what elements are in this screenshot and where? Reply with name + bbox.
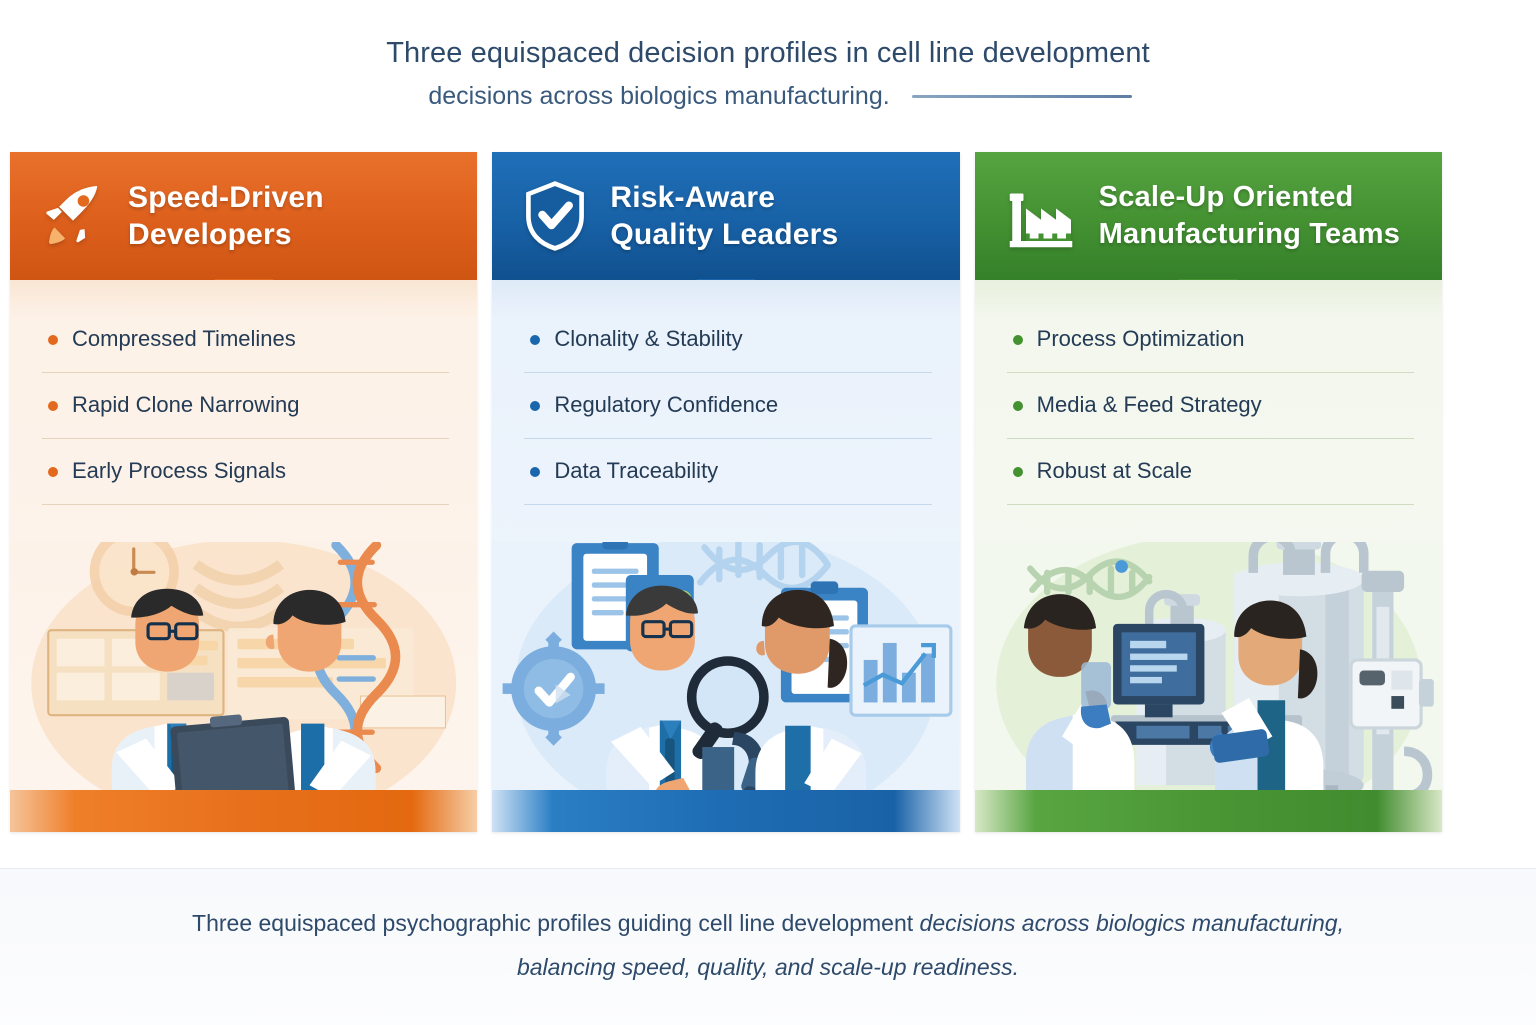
profile-card-risk-aware-quality-leaders[interactable]: Risk-Aware Quality Leaders Clonality & S…	[492, 152, 959, 832]
card-title-line-1: Scale-Up Oriented	[1099, 179, 1400, 216]
card-body-risk-aware-quality-leaders: Clonality & Stability Regulatory Confide…	[492, 280, 959, 832]
illustration-two-scientists-clipboard	[10, 542, 477, 832]
feature-list-risk-aware-quality-leaders: Clonality & Stability Regulatory Confide…	[524, 326, 927, 505]
list-item[interactable]: Compressed Timelines	[42, 326, 445, 373]
infographic-page: Three equispaced decision profiles in ce…	[0, 0, 1536, 1024]
card-body-speed-driven-developers: Compressed Timelines Rapid Clone Narrowi…	[10, 280, 477, 832]
list-item[interactable]: Data Traceability	[524, 458, 927, 505]
list-item[interactable]: Media & Feed Strategy	[1007, 392, 1410, 439]
card-header-risk-aware-quality-leaders: Risk-Aware Quality Leaders	[492, 152, 959, 280]
footer-caption-upright: Three equispaced psychographic profiles …	[192, 910, 920, 936]
card-title-line-2: Manufacturing Teams	[1099, 216, 1400, 253]
profile-card-scale-up-oriented-manufacturing-teams[interactable]: Scale-Up Oriented Manufacturing Teams Pr…	[975, 152, 1442, 832]
page-title-line-2: decisions across biologics manufacturing…	[428, 80, 889, 112]
card-title-line-2: Quality Leaders	[610, 216, 838, 253]
page-subtitle-row: decisions across biologics manufacturing…	[0, 80, 1536, 112]
footer-caption: Three equispaced psychographic profiles …	[168, 901, 1368, 989]
card-title-risk-aware-quality-leaders: Risk-Aware Quality Leaders	[610, 179, 838, 253]
page-title-line-1: Three equispaced decision profiles in ce…	[0, 34, 1536, 72]
profile-card-speed-driven-developers[interactable]: Speed-Driven Developers Compressed Timel…	[10, 152, 477, 832]
card-title-line-1: Risk-Aware	[610, 179, 838, 216]
list-item[interactable]: Rapid Clone Narrowing	[42, 392, 445, 439]
footer-band: Three equispaced psychographic profiles …	[0, 868, 1536, 1025]
list-item[interactable]: Process Optimization	[1007, 326, 1410, 373]
feature-list-scale-up-oriented-manufacturing-teams: Process Optimization Media & Feed Strate…	[1007, 326, 1410, 505]
title-divider-rule	[912, 95, 1132, 98]
card-base-bar	[492, 790, 959, 832]
feature-list-speed-driven-developers: Compressed Timelines Rapid Clone Narrowi…	[42, 326, 445, 505]
card-title-scale-up-oriented-manufacturing-teams: Scale-Up Oriented Manufacturing Teams	[1099, 179, 1400, 253]
card-base-bar	[975, 790, 1442, 832]
card-header-scale-up-oriented-manufacturing-teams: Scale-Up Oriented Manufacturing Teams	[975, 152, 1442, 280]
card-header-speed-driven-developers: Speed-Driven Developers	[10, 152, 477, 280]
shield-check-icon	[518, 179, 592, 253]
illustration-two-scientists-microscope	[492, 542, 959, 832]
list-item[interactable]: Robust at Scale	[1007, 458, 1410, 505]
list-item[interactable]: Regulatory Confidence	[524, 392, 927, 439]
illustration-bioreactor-scaleup	[975, 542, 1442, 832]
list-item[interactable]: Clonality & Stability	[524, 326, 927, 373]
card-title-speed-driven-developers: Speed-Driven Developers	[128, 179, 324, 253]
profile-card-row: Speed-Driven Developers Compressed Timel…	[10, 152, 1442, 832]
card-title-line-2: Developers	[128, 216, 324, 253]
card-base-bar	[10, 790, 477, 832]
rocket-icon	[36, 179, 110, 253]
factory-icon	[1001, 176, 1081, 256]
page-title: Three equispaced decision profiles in ce…	[0, 34, 1536, 112]
card-body-scale-up-oriented-manufacturing-teams: Process Optimization Media & Feed Strate…	[975, 280, 1442, 832]
list-item[interactable]: Early Process Signals	[42, 458, 445, 505]
card-title-line-1: Speed-Driven	[128, 179, 324, 216]
